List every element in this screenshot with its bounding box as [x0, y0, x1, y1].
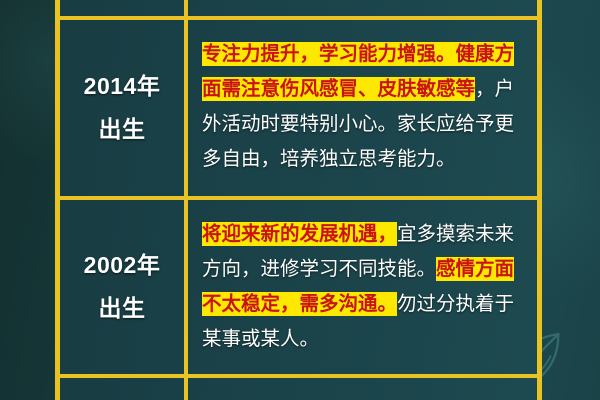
description-cell: [188, 0, 537, 16]
table-row: 2002年 出生 将迎来新的发展机遇，宜多摸索未来方向，进修学习不同技能。感情方…: [60, 200, 537, 378]
highlight-text: 将迎来新的发展机遇，: [202, 222, 397, 246]
year-cell: [60, 0, 188, 16]
fortune-table: 2014年 出生 专注力提升，学习能力增强。健康方面需注意伤风感冒、皮肤敏感等，…: [55, 0, 542, 400]
table-row: [60, 0, 537, 20]
description-cell: [188, 378, 537, 400]
table-row: [60, 378, 537, 400]
year-cell: 2014年 出生: [60, 20, 188, 196]
year-cell: [60, 378, 188, 400]
year-label-primary: 2002年: [84, 254, 161, 277]
year-label-secondary: 出生: [99, 118, 146, 141]
year-cell: 2002年 出生: [60, 200, 188, 374]
year-label-secondary: 出生: [99, 297, 146, 320]
description-cell: 将迎来新的发展机遇，宜多摸索未来方向，进修学习不同技能。感情方面不太稳定，需多沟…: [188, 200, 537, 374]
highlight-text: 专注力提升，学习能力增强。健康方面需注意伤风感冒、皮肤敏感等: [202, 42, 514, 101]
poster-canvas: 2014年 出生 专注力提升，学习能力增强。健康方面需注意伤风感冒、皮肤敏感等，…: [0, 0, 600, 400]
table-row: 2014年 出生 专注力提升，学习能力增强。健康方面需注意伤风感冒、皮肤敏感等，…: [60, 20, 537, 200]
year-label-primary: 2014年: [84, 75, 161, 98]
description-cell: 专注力提升，学习能力增强。健康方面需注意伤风感冒、皮肤敏感等，户外活动时要特别小…: [188, 20, 537, 196]
